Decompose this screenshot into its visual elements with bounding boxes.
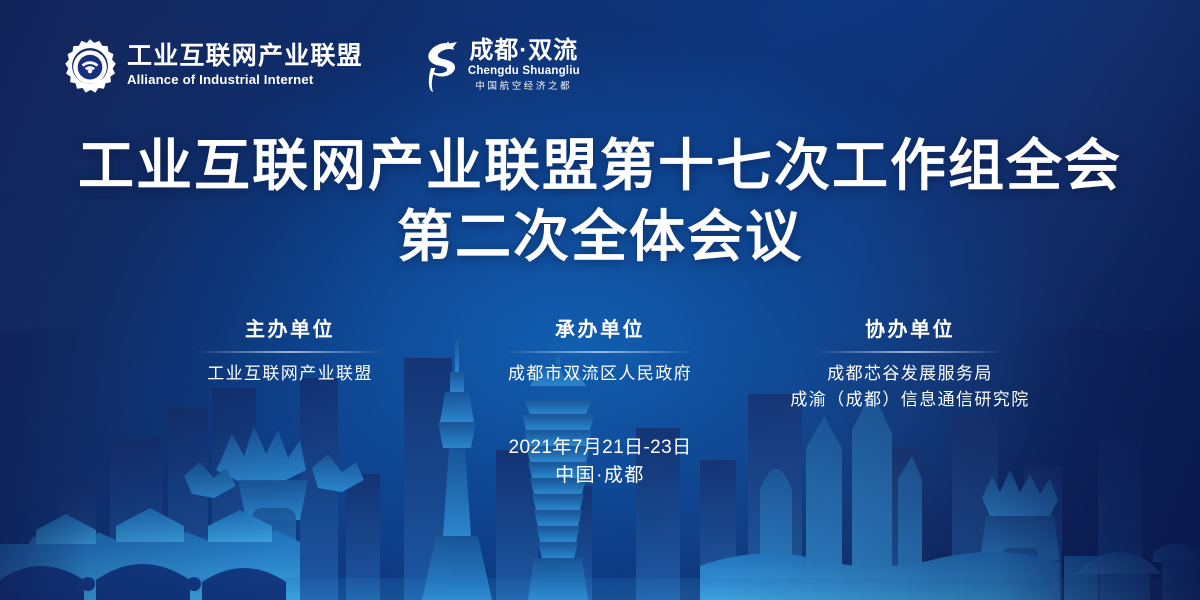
shuangliu-logo-en-text: Chengdu Shuangliu	[468, 64, 580, 79]
event-title-line-1: 工业互联网产业联盟第十七次工作组全会	[0, 131, 1200, 202]
organizer-unit: 成渝（成都）信息通信研究院	[760, 387, 1060, 413]
event-date: 2021年7月21日-23日	[0, 434, 1200, 462]
logo-bar: 工业互联网产业联盟 Alliance of Industrial Interne…	[62, 35, 580, 97]
shuangliu-logo-cn-text: 成都·双流	[469, 38, 578, 63]
organizer-column-undertaker: 承办单位 成都市双流区人民政府	[450, 318, 750, 387]
swoosh-airplane-icon	[416, 40, 462, 92]
event-title: 工业互联网产业联盟第十七次工作组全会 第二次全体会议	[0, 131, 1200, 272]
logo-chengdu-shuangliu: 成都·双流 Chengdu Shuangliu 中国航空经济之都	[416, 37, 580, 95]
conference-banner: 工业互联网产业联盟 Alliance of Industrial Interne…	[0, 0, 1200, 600]
event-title-line-2: 第二次全体会议	[0, 202, 1200, 273]
organizer-role-label: 协办单位	[760, 318, 1060, 342]
organizer-divider	[815, 351, 1005, 353]
alliance-logo-en-text: Alliance of Industrial Internet	[127, 72, 363, 89]
skyline-near-layer	[0, 508, 1200, 600]
traditional-roofline-right	[700, 552, 1060, 600]
organizer-divider	[505, 351, 695, 353]
organizer-unit: 成都市双流区人民政府	[450, 361, 750, 387]
event-meta: 2021年7月21日-23日 中国·成都	[0, 434, 1200, 489]
gear-wifi-icon	[62, 38, 118, 94]
organizer-unit: 工业互联网产业联盟	[140, 361, 440, 387]
organizers-section: 主办单位 工业互联网产业联盟 承办单位 成都市双流区人民政府 协办单位 成都芯谷…	[140, 318, 1060, 414]
shuangliu-logo-tagline: 中国航空经济之都	[475, 81, 572, 93]
organizer-column-coorganizer: 协办单位 成都芯谷发展服务局 成渝（成都）信息通信研究院	[760, 318, 1060, 414]
organizer-role-label: 主办单位	[140, 318, 440, 342]
organizer-unit: 成都芯谷发展服务局	[760, 361, 1060, 387]
logo-alliance-of-industrial-internet: 工业互联网产业联盟 Alliance of Industrial Interne…	[62, 37, 363, 95]
alliance-logo-cn-text: 工业互联网产业联盟	[127, 43, 363, 70]
organizer-column-host: 主办单位 工业互联网产业联盟	[140, 318, 440, 387]
organizer-role-label: 承办单位	[450, 318, 750, 342]
organizer-divider	[195, 351, 385, 353]
traditional-roofline-left	[0, 530, 300, 600]
crown-hall	[980, 470, 1060, 600]
event-location: 中国·成都	[0, 462, 1200, 490]
anshun-bridge	[0, 564, 286, 600]
modern-towers-right	[760, 390, 922, 600]
